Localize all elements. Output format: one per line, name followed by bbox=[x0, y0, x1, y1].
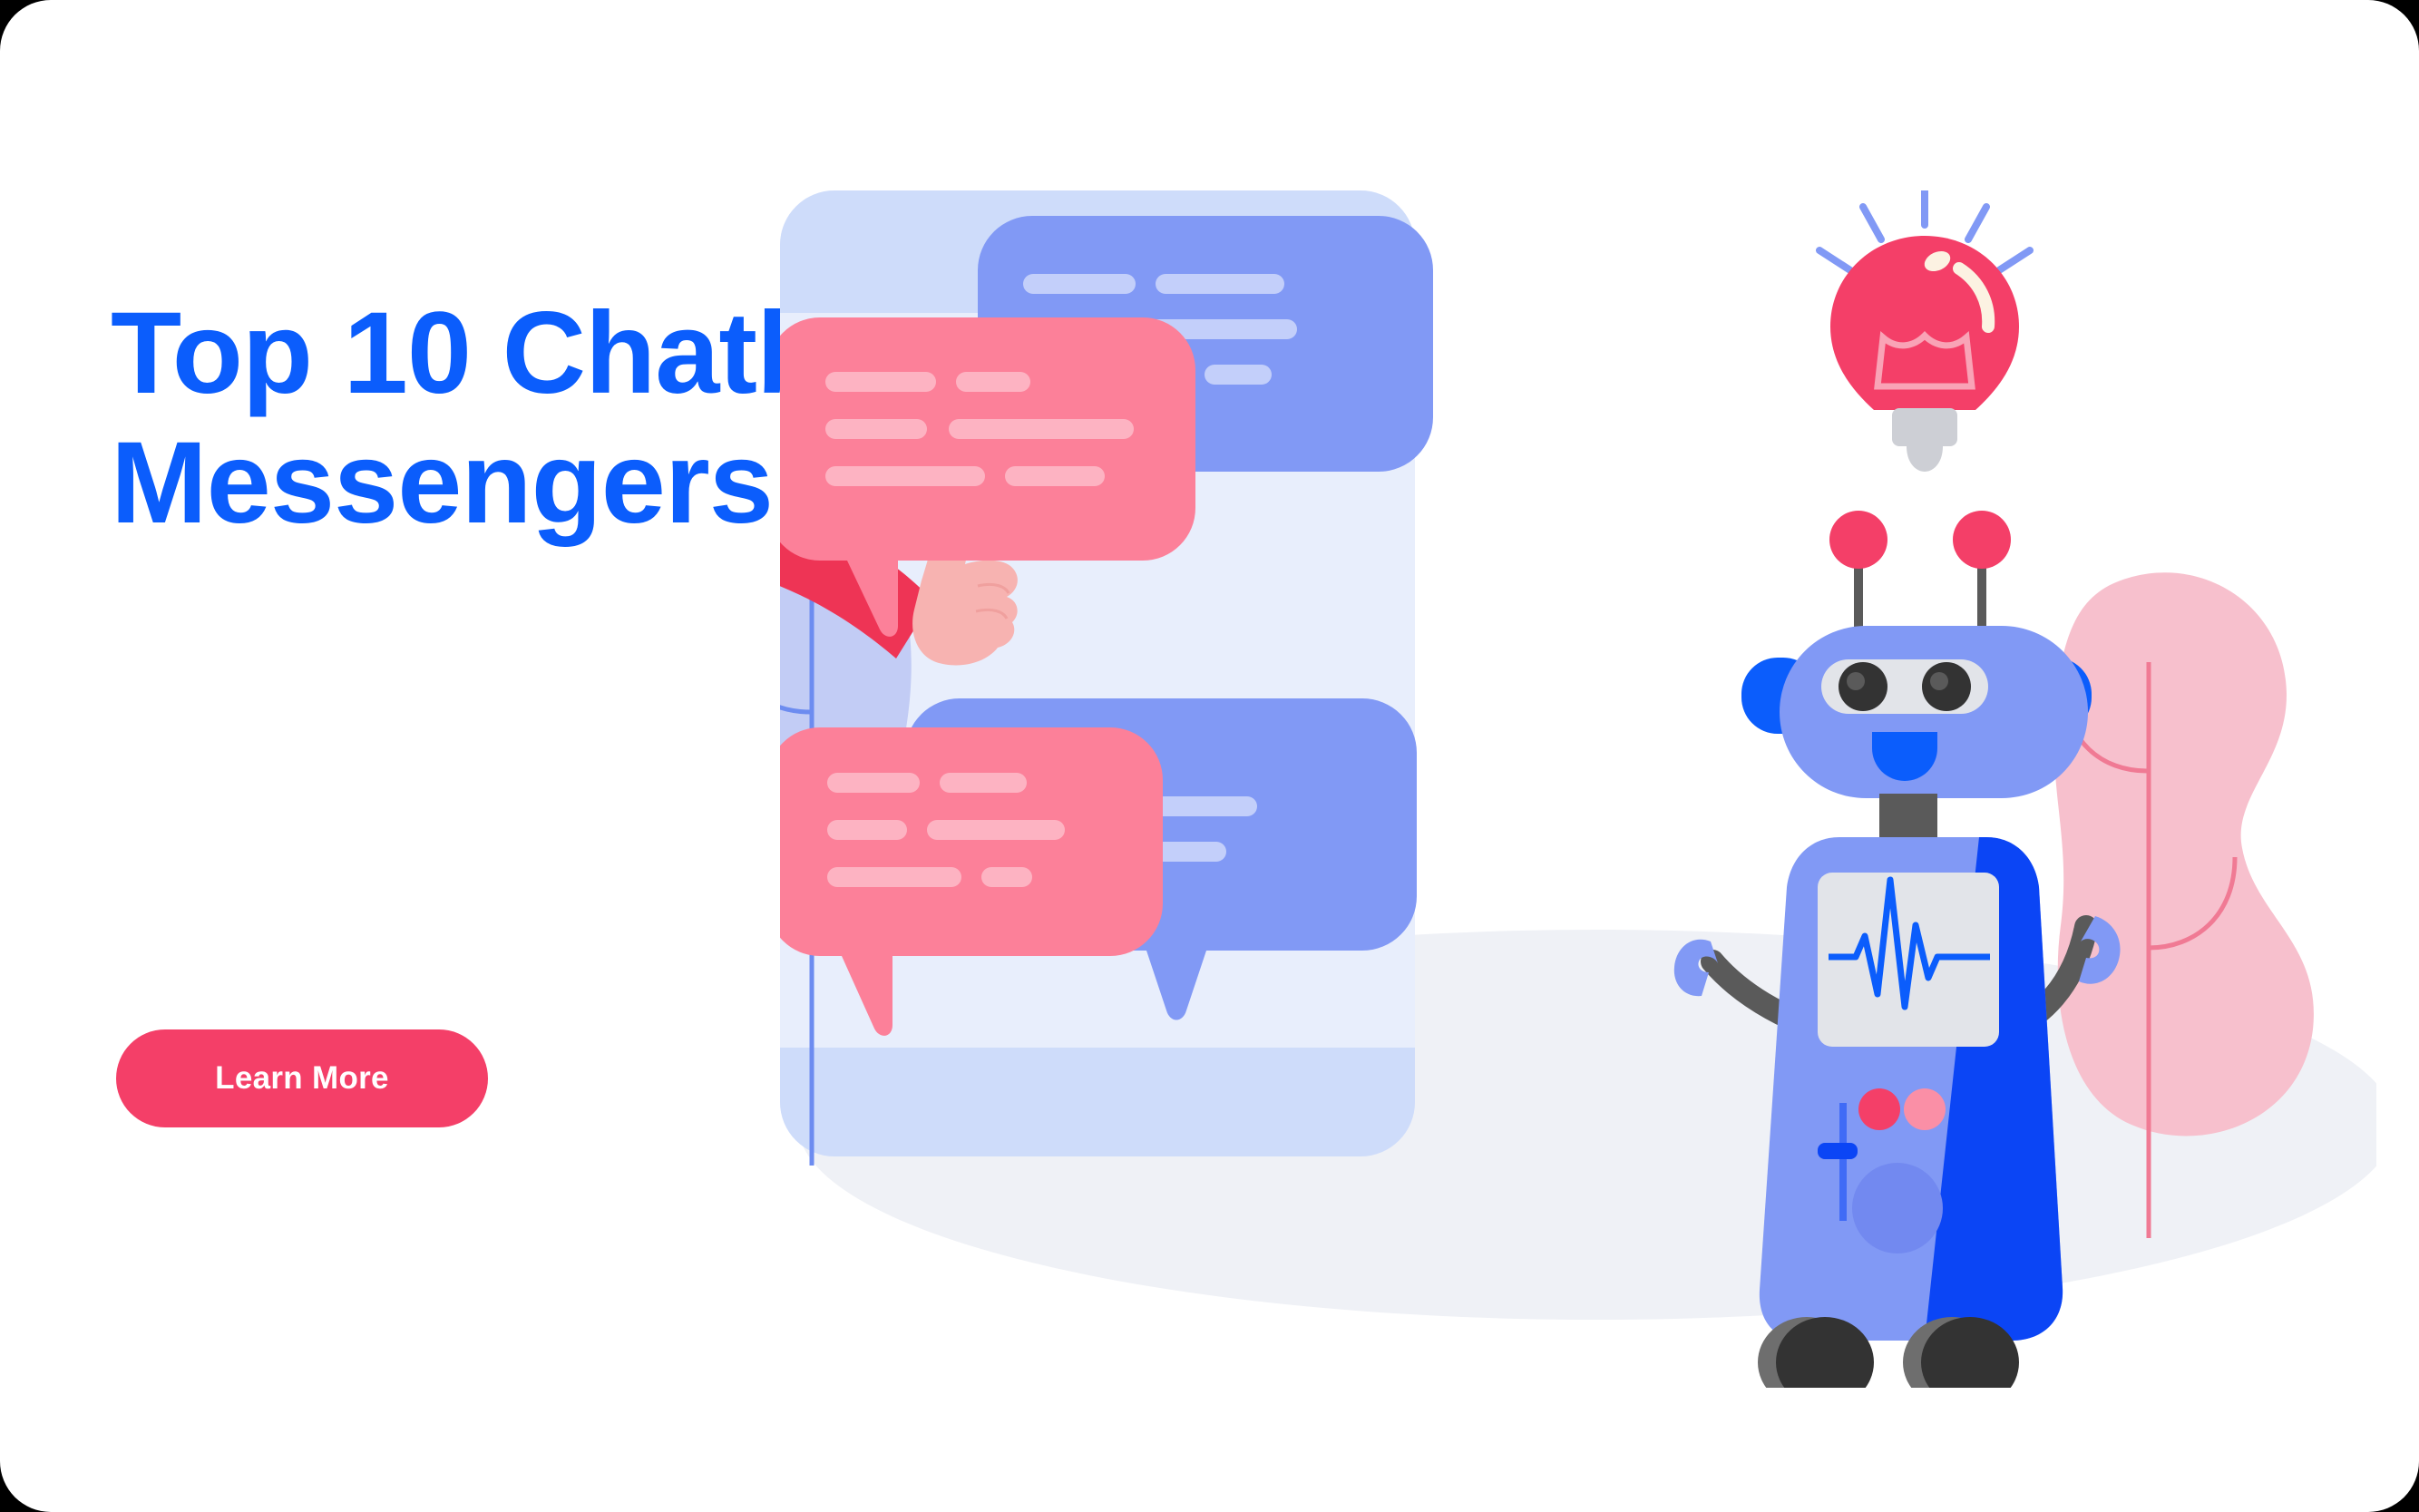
robot-slider-knob bbox=[1818, 1143, 1858, 1159]
robot-neck bbox=[1879, 794, 1937, 837]
robot-indicator-1 bbox=[1858, 1088, 1900, 1130]
robot-slider-track bbox=[1839, 1103, 1847, 1221]
learn-more-button[interactable]: Learn More bbox=[116, 1029, 488, 1127]
robot-round-button bbox=[1852, 1163, 1943, 1253]
hero-card: Top 10 Chatbot Messengers Learn More bbox=[0, 0, 2419, 1512]
robot-indicator-2 bbox=[1904, 1088, 1946, 1130]
idea-lightbulb bbox=[1819, 190, 2030, 472]
chatbot-messenger-illustration bbox=[780, 190, 2376, 1388]
robot-antennas bbox=[1829, 511, 2011, 635]
